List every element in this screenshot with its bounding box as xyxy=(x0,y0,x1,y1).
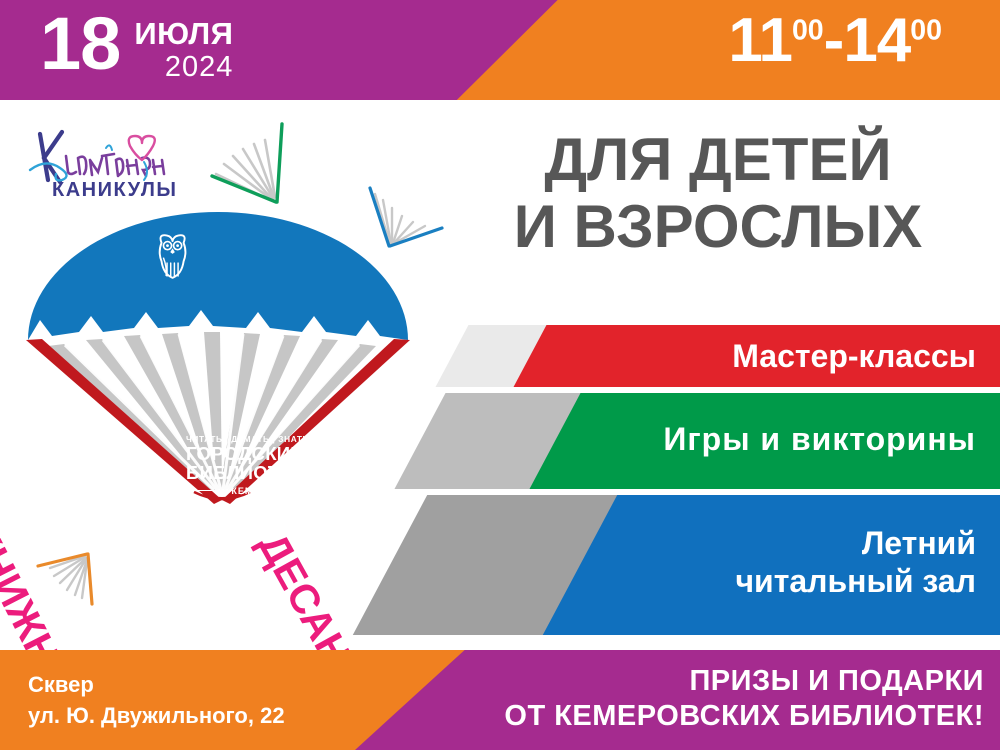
headline-line-1: ДЛЯ ДЕТЕЙ xyxy=(544,126,891,193)
venue-address: Сквер ул. Ю. Двужильного, 22 xyxy=(28,670,285,732)
kulturnye-kanikuly-logo: КАНИКУЛЫ xyxy=(22,122,172,204)
flying-book-green xyxy=(198,112,333,227)
poster-canvas: 18 ИЮЛЯ 2024 1100-1400 ДЛЯ ДЕТЕЙ И ВЗРОС… xyxy=(0,0,1000,750)
headline-line-2: И ВЗРОСЛЫХ xyxy=(458,193,978,260)
kk-logo-word: КАНИКУЛЫ xyxy=(52,179,177,202)
poster-footer: Сквер ул. Ю. Двужильного, 22 ПРИЗЫ И ПОД… xyxy=(0,650,1000,750)
event-date: 18 ИЮЛЯ 2024 xyxy=(40,8,233,82)
date-month: ИЮЛЯ xyxy=(134,18,233,49)
page-title: ДЛЯ ДЕТЕЙ И ВЗРОСЛЫХ xyxy=(458,126,978,260)
activity-label-3: Летний читальный зал xyxy=(735,525,976,601)
venue-name: Сквер xyxy=(28,670,285,701)
activity-bars: Мастер-классы Игры и викторины Летний чи… xyxy=(0,325,1000,635)
activity-label-1: Мастер-классы xyxy=(732,338,976,376)
activity-bar-games-and-quizzes[interactable]: Игры и викторины xyxy=(0,393,1000,489)
flying-book-blue xyxy=(350,168,465,268)
poster-header: 18 ИЮЛЯ 2024 1100-1400 xyxy=(0,0,1000,100)
activity-bar-master-classes[interactable]: Мастер-классы xyxy=(0,325,1000,387)
prizes-note: ПРИЗЫ И ПОДАРКИ ОТ КЕМЕРОВСКИХ БИБЛИОТЕК… xyxy=(504,664,984,735)
time-end-hour: 14 xyxy=(843,6,910,75)
time-end-minutes: 00 xyxy=(910,14,942,46)
date-day: 18 xyxy=(40,8,120,81)
event-time: 1100-1400 xyxy=(728,8,942,73)
date-year: 2024 xyxy=(134,53,233,82)
prizes-line-2: ОТ КЕМЕРОВСКИХ БИБЛИОТЕК! xyxy=(504,699,984,734)
date-month-year: ИЮЛЯ 2024 xyxy=(134,8,233,82)
time-separator: - xyxy=(824,6,844,75)
activity-label-2: Игры и викторины xyxy=(663,421,976,459)
activity-label-3-line-1: Летний xyxy=(735,525,976,563)
activity-bar-summer-reading-room[interactable]: Летний читальный зал xyxy=(0,495,1000,635)
heart-icon xyxy=(129,136,155,160)
time-start-minutes: 00 xyxy=(792,14,824,46)
activity-label-3-line-2: читальный зал xyxy=(735,563,976,601)
prizes-line-1: ПРИЗЫ И ПОДАРКИ xyxy=(504,664,984,699)
street-address: ул. Ю. Двужильного, 22 xyxy=(28,701,285,732)
time-start-hour: 11 xyxy=(728,6,792,75)
